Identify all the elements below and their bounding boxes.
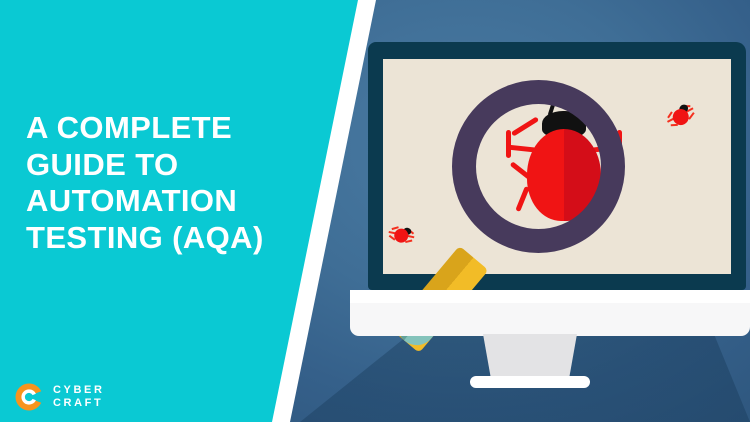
logo-line-1: CYBER bbox=[53, 384, 105, 397]
title-line-3: AUTOMATION bbox=[26, 183, 326, 220]
cybercraft-logo: CYBER CRAFT bbox=[14, 382, 105, 412]
cybercraft-logo-text: CYBER CRAFT bbox=[53, 384, 105, 410]
monitor-stand-neck bbox=[475, 334, 585, 379]
title-line-1: A COMPLETE bbox=[26, 110, 326, 147]
monitor-stand-base bbox=[470, 376, 590, 388]
monitor-chin-highlight bbox=[350, 290, 750, 303]
title-line-2: GUIDE TO bbox=[26, 147, 326, 184]
logo-line-2: CRAFT bbox=[53, 397, 105, 410]
title-line-4: TESTING (AQA) bbox=[26, 220, 326, 257]
banner-image: A COMPLETE GUIDE TO AUTOMATION TESTING (… bbox=[0, 0, 750, 422]
magnifier-ring bbox=[452, 80, 625, 253]
page-title: A COMPLETE GUIDE TO AUTOMATION TESTING (… bbox=[26, 110, 326, 256]
cybercraft-c-mark-icon bbox=[14, 382, 44, 412]
small-bug-left bbox=[385, 219, 421, 255]
